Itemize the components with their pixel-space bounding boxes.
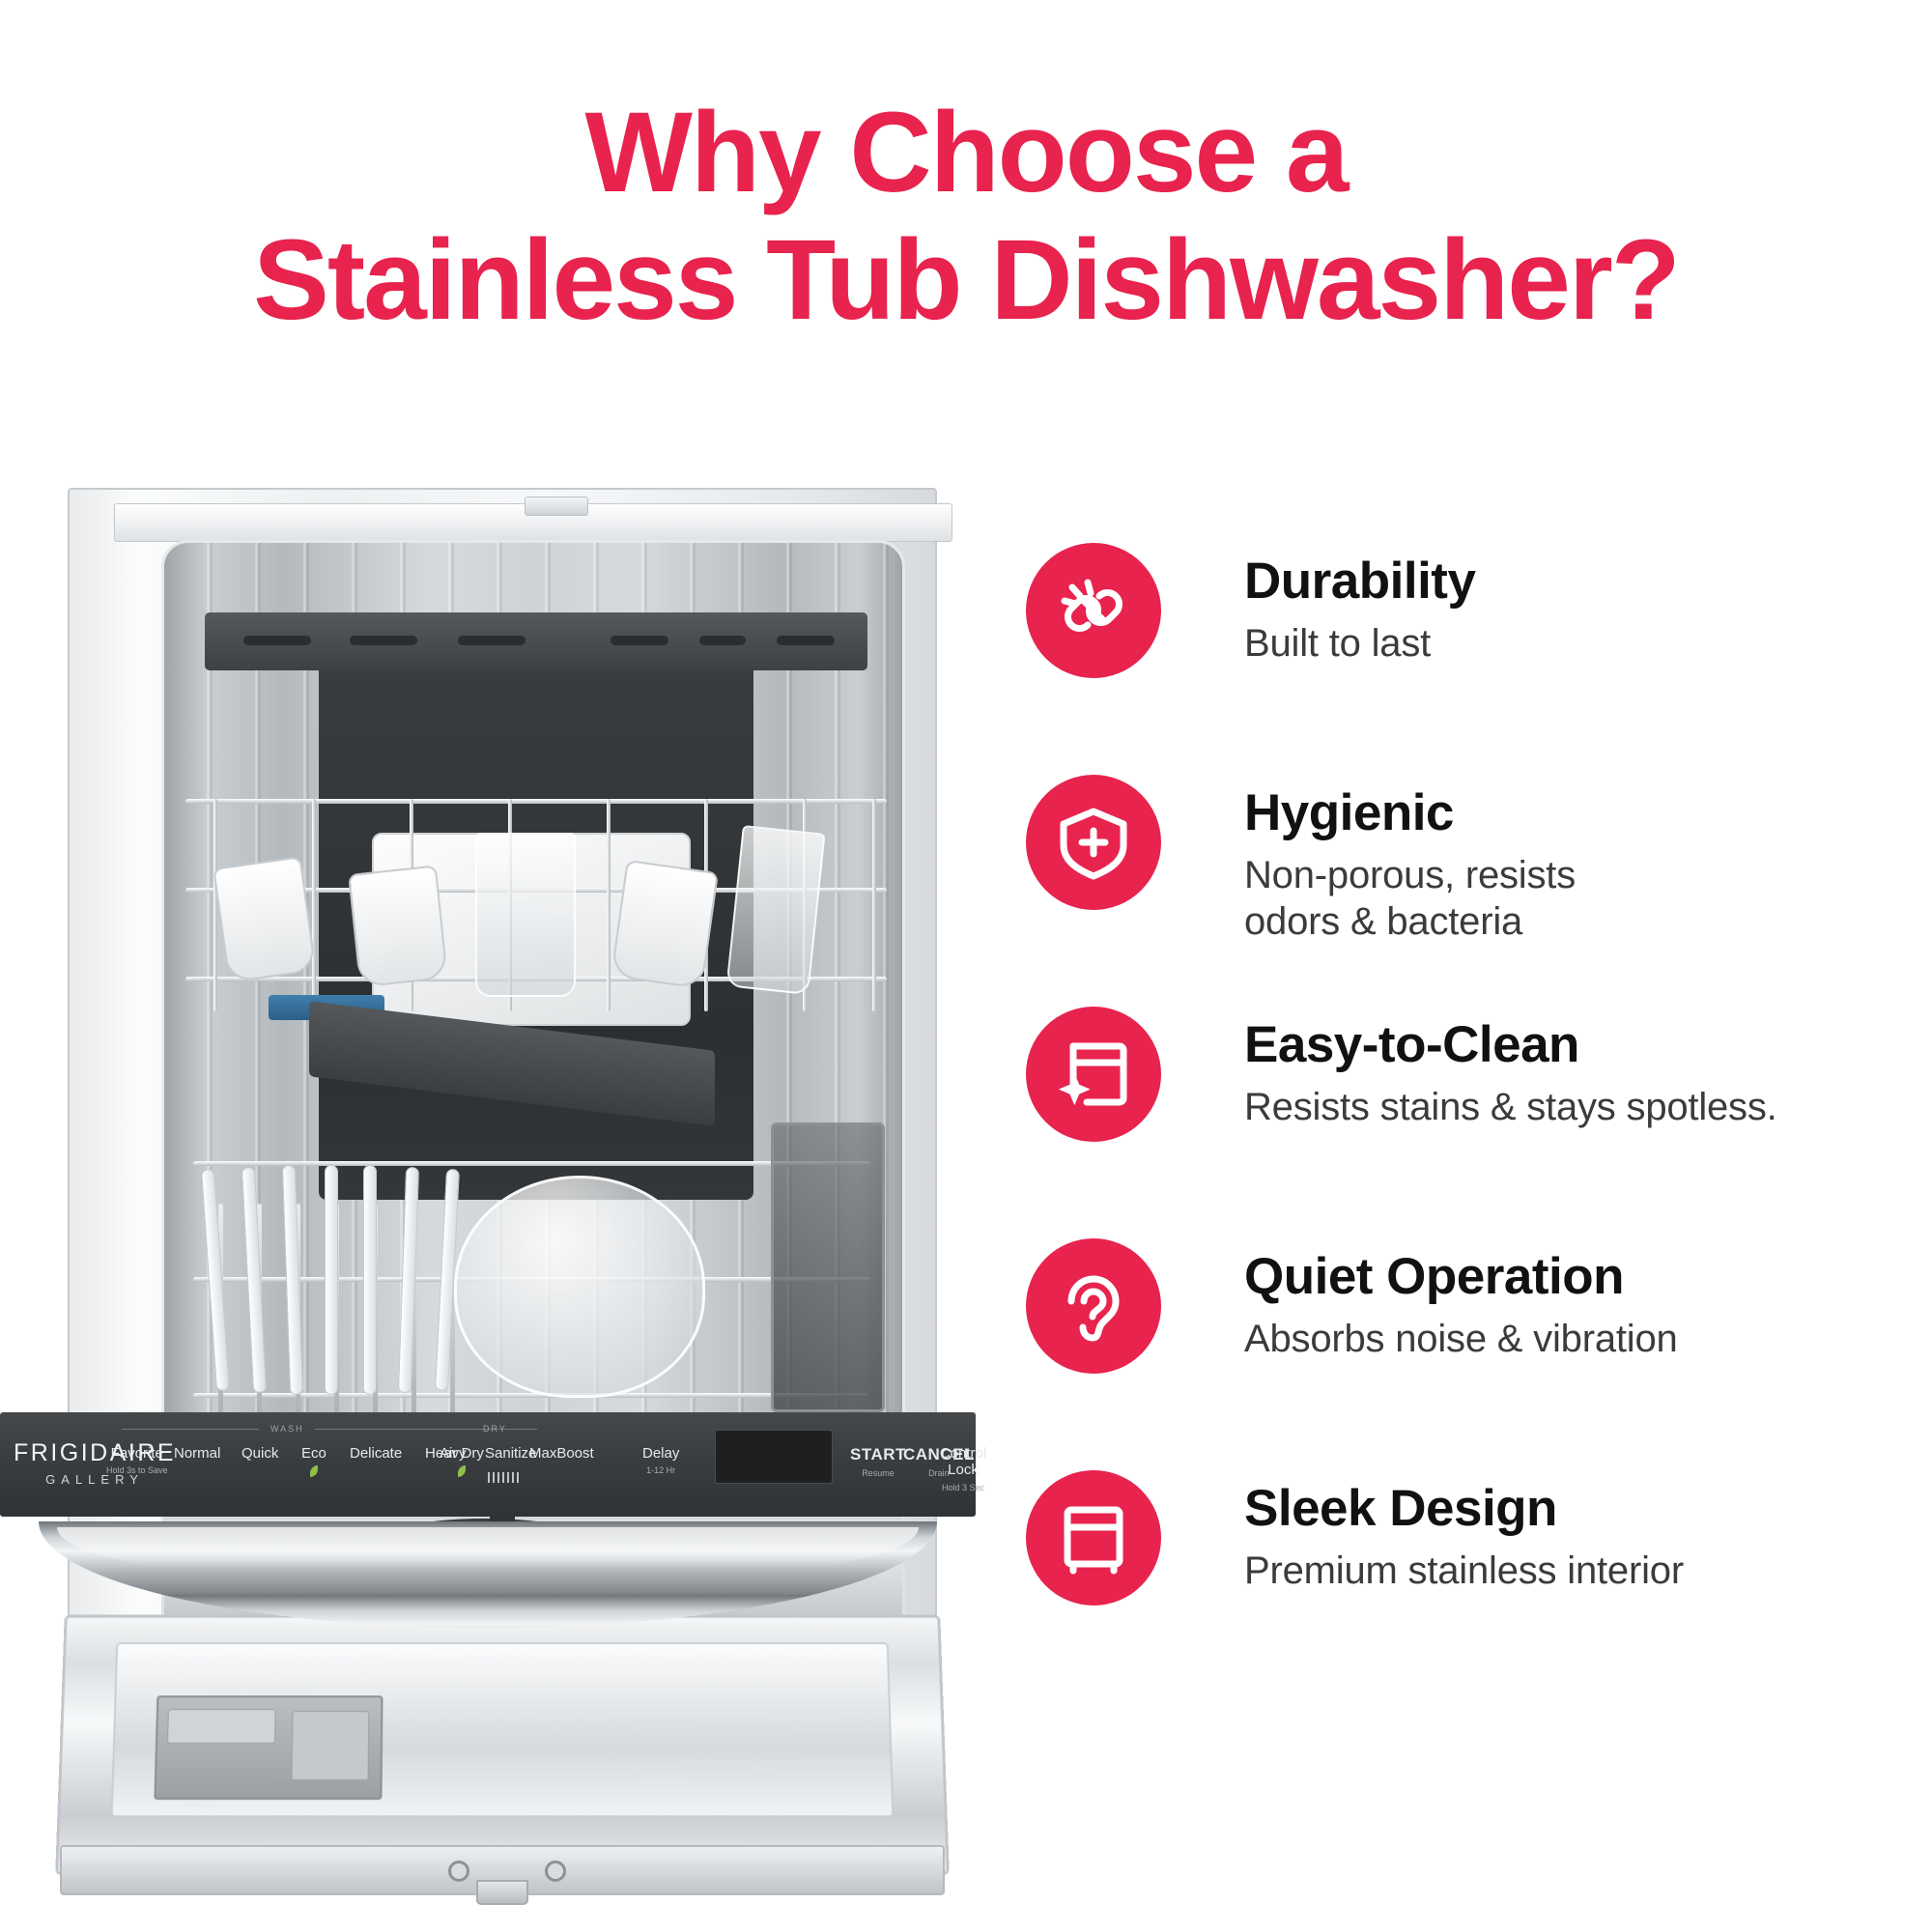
status-display <box>715 1430 833 1484</box>
feature-text: Easy-to-Clean Resists stains & stays spo… <box>1244 1005 1777 1130</box>
title-line-1: Why Choose a <box>0 89 1932 216</box>
button-sublabel: Resume <box>850 1468 906 1478</box>
button-label: Normal <box>174 1445 220 1462</box>
plate <box>325 1165 338 1395</box>
button-label: Delay <box>642 1445 679 1462</box>
button-control-lock[interactable]: Control Lock Hold 3 Sec <box>929 1445 997 1492</box>
infographic-page: Why Choose a Stainless Tub Dishwasher? <box>0 0 1932 1932</box>
dry-group-label: DRY <box>483 1424 507 1434</box>
button-sublabel: 1-12 Hr <box>642 1465 679 1475</box>
feature-text: Durability Built to last <box>1244 541 1475 667</box>
button-air-dry[interactable]: Air Dry <box>440 1445 484 1477</box>
button-label: Delicate <box>350 1445 402 1462</box>
feature-title: Hygienic <box>1244 786 1576 840</box>
feature-title: Quiet Operation <box>1244 1250 1678 1304</box>
feature-description: Premium stainless interior <box>1244 1548 1684 1595</box>
title-line-2: Stainless Tub Dishwasher? <box>0 216 1932 344</box>
mug <box>611 860 719 989</box>
button-label: Quick <box>241 1445 278 1462</box>
wash-group-rule-left <box>122 1429 259 1430</box>
button-favorite[interactable]: Favorite Hold 3s to Save <box>106 1445 168 1475</box>
stainless-tub-interior <box>161 540 905 1564</box>
button-label: START <box>850 1445 906 1464</box>
eco-leaf-icon <box>458 1465 466 1477</box>
glass-bowl <box>454 1176 705 1398</box>
feature-text: Quiet Operation Absorbs noise & vibratio… <box>1244 1236 1678 1362</box>
feature-list: Durability Built to last Hygienic Non-po… <box>1026 541 1924 1700</box>
door-front-edge <box>60 1845 945 1895</box>
feature-item-easy-to-clean: Easy-to-Clean Resists stains & stays spo… <box>1026 1005 1924 1236</box>
feature-item-sleek-design: Sleek Design Premium stainless interior <box>1026 1468 1924 1700</box>
feature-description: Built to last <box>1244 620 1475 668</box>
silverware-basket <box>771 1122 885 1412</box>
drinking-glass <box>475 833 576 997</box>
dry-level-bars-icon <box>488 1472 521 1483</box>
dishwasher-outline-icon <box>1026 1470 1161 1605</box>
button-start[interactable]: START Resume <box>850 1445 906 1478</box>
feature-item-quiet-operation: Quiet Operation Absorbs noise & vibratio… <box>1026 1236 1924 1468</box>
feature-title: Durability <box>1244 554 1475 609</box>
button-delay[interactable]: Delay 1-12 Hr <box>642 1445 679 1475</box>
door-latch-right-icon <box>545 1861 566 1882</box>
plate <box>363 1165 377 1395</box>
button-sublabel: Hold 3s to Save <box>106 1465 168 1475</box>
eco-leaf-icon <box>310 1465 318 1477</box>
button-sublabel: Hold 3 Sec <box>929 1483 997 1492</box>
button-label: Control Lock <box>929 1445 997 1479</box>
detergent-dispenser[interactable] <box>154 1695 383 1800</box>
feature-text: Hygienic Non-porous, resists odors & bac… <box>1244 773 1576 946</box>
button-label: MaxBoost <box>529 1445 594 1462</box>
ear-icon <box>1026 1238 1161 1374</box>
control-panel: FRIGIDAIRE GALLERY WASH Favorite Hold 3s… <box>0 1412 976 1517</box>
feature-title: Easy-to-Clean <box>1244 1018 1777 1072</box>
button-normal[interactable]: Normal <box>174 1445 220 1462</box>
door-catch-tab <box>476 1880 528 1905</box>
door-handle-bar[interactable] <box>39 1521 937 1628</box>
feature-item-durability: Durability Built to last <box>1026 541 1924 773</box>
button-eco[interactable]: Eco <box>301 1445 327 1477</box>
button-maxboost[interactable]: MaxBoost <box>529 1445 594 1462</box>
feature-title: Sleek Design <box>1244 1482 1684 1536</box>
button-label: Eco <box>301 1445 327 1462</box>
button-delicate[interactable]: Delicate <box>350 1445 402 1462</box>
feature-description: Resists stains & stays spotless. <box>1244 1084 1777 1131</box>
feature-text: Sleek Design Premium stainless interior <box>1244 1468 1684 1594</box>
mug <box>348 866 448 988</box>
broken-chain-link-icon <box>1026 543 1161 678</box>
door-top-lip <box>114 503 952 542</box>
feature-description: Non-porous, resists odors & bacteria <box>1244 852 1576 947</box>
sparkle-appliance-icon <box>1026 1007 1161 1142</box>
door-latch-left-icon <box>448 1861 469 1882</box>
feature-item-hygienic: Hygienic Non-porous, resists odors & bac… <box>1026 773 1924 1005</box>
third-rack <box>205 612 867 670</box>
mug <box>213 856 317 983</box>
button-label: Air Dry <box>440 1445 484 1462</box>
drinking-glass <box>725 825 825 995</box>
button-label: Favorite <box>106 1445 168 1462</box>
button-quick[interactable]: Quick <box>241 1445 278 1462</box>
product-image <box>39 478 966 1831</box>
page-title: Why Choose a Stainless Tub Dishwasher? <box>0 89 1932 344</box>
handle-bar-shape <box>39 1521 937 1628</box>
feature-description: Absorbs noise & vibration <box>1244 1316 1678 1363</box>
wash-group-label: WASH <box>270 1424 304 1434</box>
open-door-panel[interactable] <box>55 1615 950 1875</box>
shield-plus-icon <box>1026 775 1161 910</box>
